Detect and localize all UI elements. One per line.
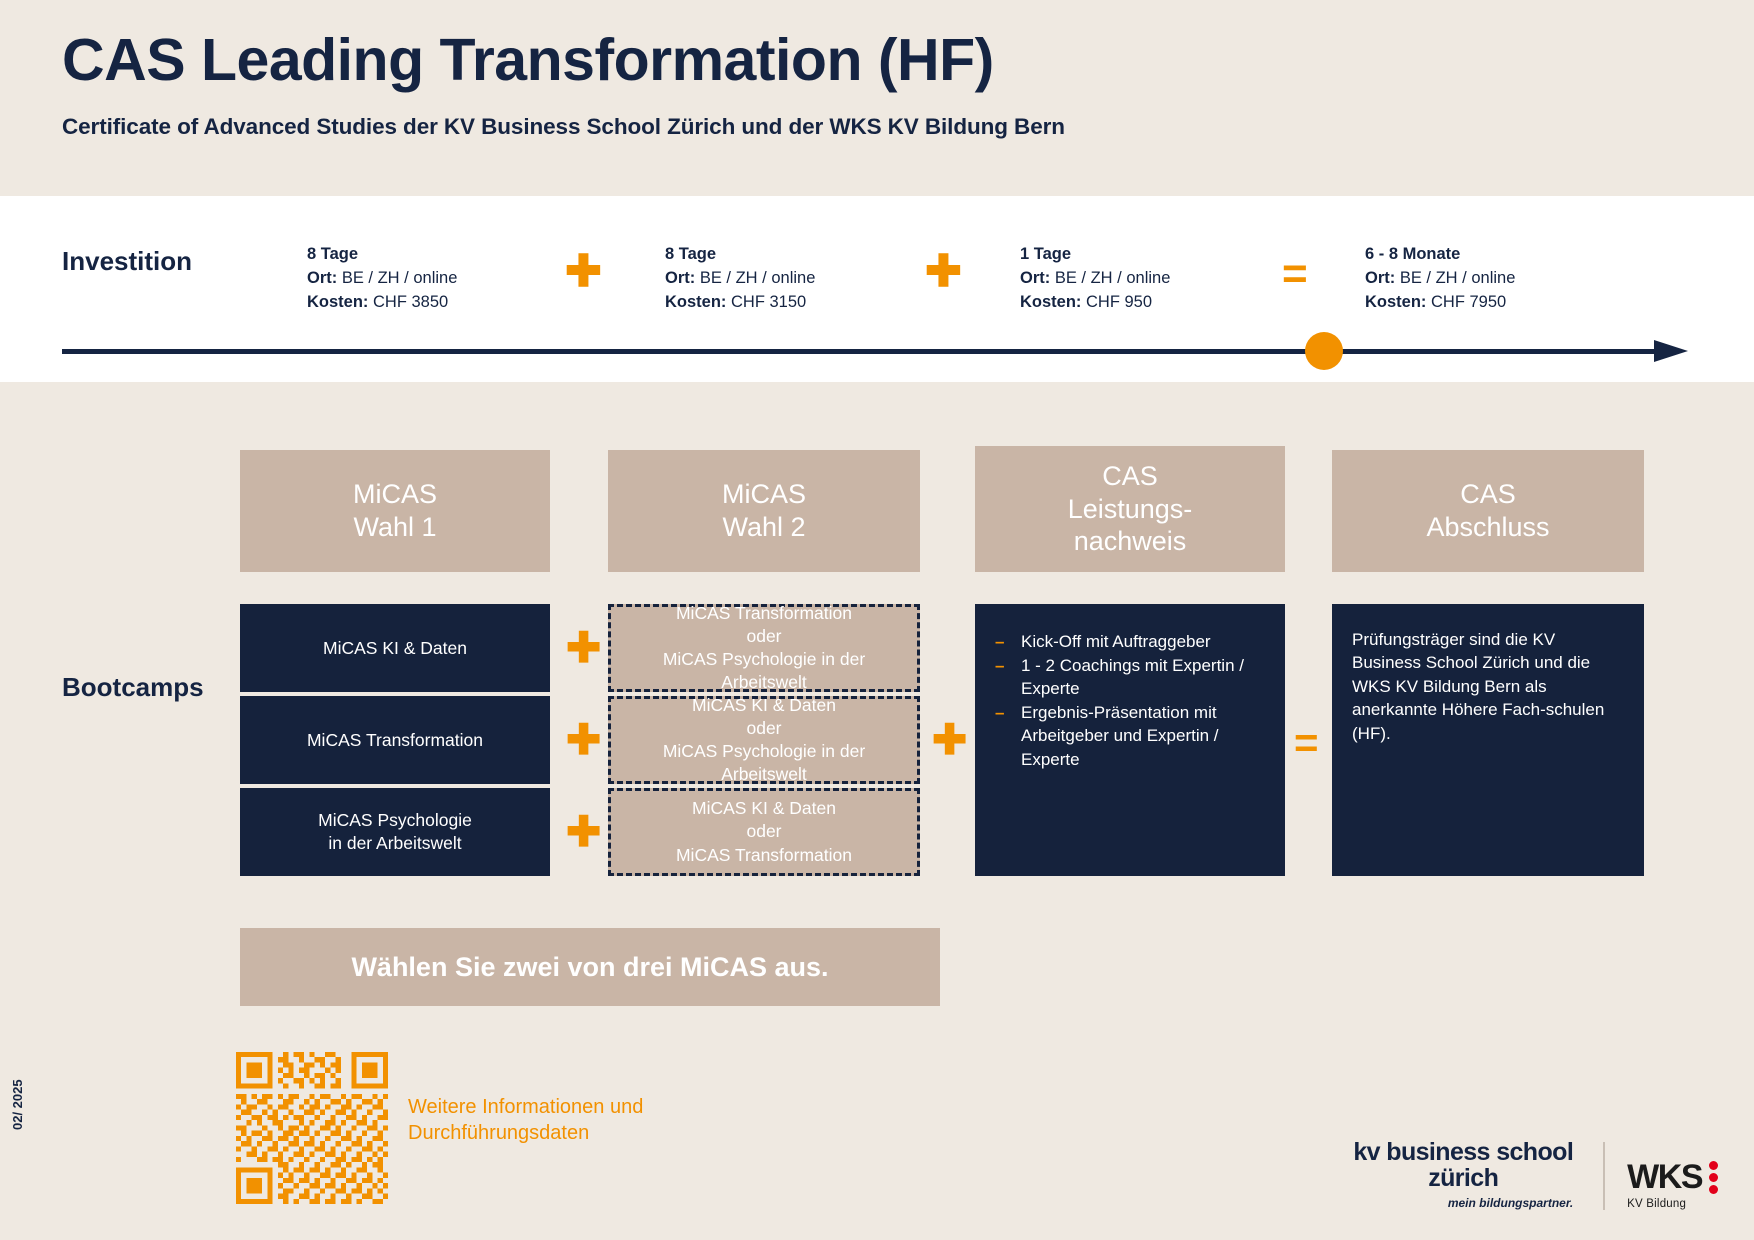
micas-choice-box-3: MiCAS KI & Daten oder MiCAS Transformati… [608, 788, 920, 876]
header-box-line1: CAS [1068, 460, 1193, 493]
kosten-label: Kosten: [307, 293, 368, 311]
choice-line4: Arbeitswelt [663, 763, 865, 786]
investment-days: 6 - 8 Monate [1365, 243, 1515, 267]
investment-kosten: Kosten: CHF 3150 [665, 291, 815, 315]
choice-line4: Arbeitswelt [663, 671, 865, 694]
investment-label: Investition [62, 246, 192, 277]
logo-divider [1603, 1142, 1605, 1210]
investment-ort: Ort: BE / ZH / online [307, 267, 457, 291]
logo-kv-line2: zürich [1353, 1166, 1573, 1192]
micas-box-transformation: MiCAS Transformation [240, 696, 550, 784]
logo-wks-wordmark: WKS [1627, 1160, 1702, 1194]
operator-equals-1: = [1282, 252, 1308, 296]
logo-wks: WKS KV Bildung [1627, 1160, 1718, 1210]
operator-plus-1: ✚ [565, 250, 602, 294]
header-box-line2: Abschluss [1426, 511, 1549, 544]
header-box-line2: Leistungs- [1068, 493, 1193, 526]
investment-column-2: 8 Tage Ort: BE / ZH / online Kosten: CHF… [665, 243, 815, 315]
bullet-text: Kick-Off mit Auftraggeber [1021, 632, 1211, 651]
header-box-line1: MiCAS [353, 478, 437, 511]
leistungsnachweis-box: –Kick-Off mit Auftraggeber –1 - 2 Coachi… [975, 604, 1285, 876]
choice-line1: MiCAS KI & Daten [663, 694, 865, 717]
box-line1: MiCAS Transformation [307, 729, 483, 752]
kosten-value: CHF 3850 [368, 293, 448, 311]
kosten-value: CHF 7950 [1426, 293, 1506, 311]
choice-line3: MiCAS Transformation [676, 844, 852, 867]
header: CAS Leading Transformation (HF) Certific… [62, 30, 1065, 140]
choice-line2: oder [663, 717, 865, 740]
qr-caption-line2: Durchführungsdaten [408, 1120, 643, 1146]
operator-plus-row-2: ✚ [566, 719, 601, 761]
header-box-line1: MiCAS [722, 478, 806, 511]
investment-ort: Ort: BE / ZH / online [1365, 267, 1515, 291]
kosten-label: Kosten: [1020, 293, 1081, 311]
box-line1: MiCAS Psychologie [318, 809, 472, 832]
abschluss-box: Prüfungsträger sind die KV Business Scho… [1332, 604, 1644, 876]
bullet-text: Ergebnis-Präsentation mit Arbeitgeber un… [1021, 703, 1219, 768]
operator-plus-row-1: ✚ [566, 627, 601, 669]
header-box-cas-leistungsnachweis: CAS Leistungs- nachweis [975, 446, 1285, 572]
investment-days: 8 Tage [307, 243, 457, 267]
logo-kv-tagline: mein bildungspartner. [1353, 1196, 1573, 1210]
ort-label: Ort: [307, 269, 337, 287]
page-subtitle: Certificate of Advanced Studies der KV B… [62, 114, 1065, 140]
logo-wks-row: WKS [1627, 1160, 1718, 1194]
header-box-micas-wahl-1: MiCAS Wahl 1 [240, 450, 550, 572]
header-box-line3: nachweis [1068, 525, 1193, 558]
ort-value: BE / ZH / online [1395, 269, 1515, 287]
arrow-head-icon [1654, 340, 1688, 362]
investment-days: 1 Tage [1020, 243, 1170, 267]
header-box-line2: Wahl 1 [353, 511, 437, 544]
ort-value: BE / ZH / online [1050, 269, 1170, 287]
leistungsnachweis-content: –Kick-Off mit Auftraggeber –1 - 2 Coachi… [975, 604, 1285, 792]
micas-box-ki-daten: MiCAS KI & Daten [240, 604, 550, 692]
ort-label: Ort: [1365, 269, 1395, 287]
investment-kosten: Kosten: CHF 7950 [1365, 291, 1515, 315]
investment-kosten: Kosten: CHF 3850 [307, 291, 457, 315]
bootcamps-label: Bootcamps [62, 672, 204, 703]
qr-code-icon[interactable] [236, 1052, 388, 1204]
qr-caption-line1: Weitere Informationen und [408, 1094, 643, 1120]
page-title: CAS Leading Transformation (HF) [62, 30, 1065, 92]
infographic-page: CAS Leading Transformation (HF) Certific… [0, 0, 1754, 1240]
publication-date: 02/ 2025 [10, 1079, 25, 1130]
micas-choice-box-2: MiCAS KI & Daten oder MiCAS Psychologie … [608, 696, 920, 784]
investment-days: 8 Tage [665, 243, 815, 267]
qr-caption: Weitere Informationen und Durchführungsd… [408, 1094, 643, 1147]
abschluss-text: Prüfungsträger sind die KV Business Scho… [1332, 604, 1644, 765]
header-box-cas-abschluss: CAS Abschluss [1332, 450, 1644, 572]
logo-wks-subtitle: KV Bildung [1627, 1198, 1686, 1210]
list-item: –Ergebnis-Präsentation mit Arbeitgeber u… [995, 701, 1263, 770]
kosten-label: Kosten: [665, 293, 726, 311]
investment-column-1: 8 Tage Ort: BE / ZH / online Kosten: CHF… [307, 243, 457, 315]
bullet-dash-icon: – [995, 654, 1004, 677]
operator-equals-abschluss: = [1294, 722, 1319, 764]
ort-label: Ort: [665, 269, 695, 287]
choice-line2: oder [663, 625, 865, 648]
logo-kv-business-school: kv business school zürich mein bildungsp… [1353, 1140, 1581, 1210]
investment-column-3: 1 Tage Ort: BE / ZH / online Kosten: CHF… [1020, 243, 1170, 315]
logo-wks-dots-icon [1709, 1161, 1718, 1194]
investment-kosten: Kosten: CHF 950 [1020, 291, 1170, 315]
choice-line2: oder [676, 820, 852, 843]
choice-line3: MiCAS Psychologie in der [663, 740, 865, 763]
bullet-dash-icon: – [995, 630, 1004, 653]
list-item: –Kick-Off mit Auftraggeber [995, 630, 1263, 653]
timeline-marker-dot [1305, 332, 1343, 370]
ort-value: BE / ZH / online [337, 269, 457, 287]
investment-ort: Ort: BE / ZH / online [665, 267, 815, 291]
list-item: –1 - 2 Coachings mit Expertin / Experte [995, 654, 1263, 700]
operator-plus-leistungsnachweis: ✚ [932, 719, 967, 761]
micas-choice-box-1: MiCAS Transformation oder MiCAS Psycholo… [608, 604, 920, 692]
arrow-line [62, 349, 1658, 354]
operator-plus-2: ✚ [925, 250, 962, 294]
choice-line3: MiCAS Psychologie in der [663, 648, 865, 671]
ort-label: Ort: [1020, 269, 1050, 287]
timeline-arrow [62, 330, 1692, 374]
micas-box-psychologie: MiCAS Psychologie in der Arbeitswelt [240, 788, 550, 876]
header-box-line2: Wahl 2 [722, 511, 806, 544]
leistungsnachweis-bullet-list: –Kick-Off mit Auftraggeber –1 - 2 Coachi… [995, 630, 1263, 771]
bullet-text: 1 - 2 Coachings mit Expertin / Experte [1021, 656, 1244, 698]
kosten-value: CHF 3150 [726, 293, 806, 311]
operator-plus-row-3: ✚ [566, 811, 601, 853]
logo-kv-line1: kv business school [1353, 1140, 1573, 1166]
ort-value: BE / ZH / online [695, 269, 815, 287]
header-box-line1: CAS [1426, 478, 1549, 511]
box-line1: MiCAS KI & Daten [323, 637, 467, 660]
bullet-dash-icon: – [995, 701, 1004, 724]
investment-column-4: 6 - 8 Monate Ort: BE / ZH / online Koste… [1365, 243, 1515, 315]
choice-line1: MiCAS KI & Daten [676, 797, 852, 820]
header-box-micas-wahl-2: MiCAS Wahl 2 [608, 450, 920, 572]
kosten-value: CHF 950 [1081, 293, 1152, 311]
wahl-banner: Wählen Sie zwei von drei MiCAS aus. [240, 928, 940, 1006]
kosten-label: Kosten: [1365, 293, 1426, 311]
investment-ort: Ort: BE / ZH / online [1020, 267, 1170, 291]
choice-line1: MiCAS Transformation [663, 602, 865, 625]
footer-logos: kv business school zürich mein bildungsp… [1353, 1140, 1718, 1210]
box-line2: in der Arbeitswelt [318, 832, 472, 855]
